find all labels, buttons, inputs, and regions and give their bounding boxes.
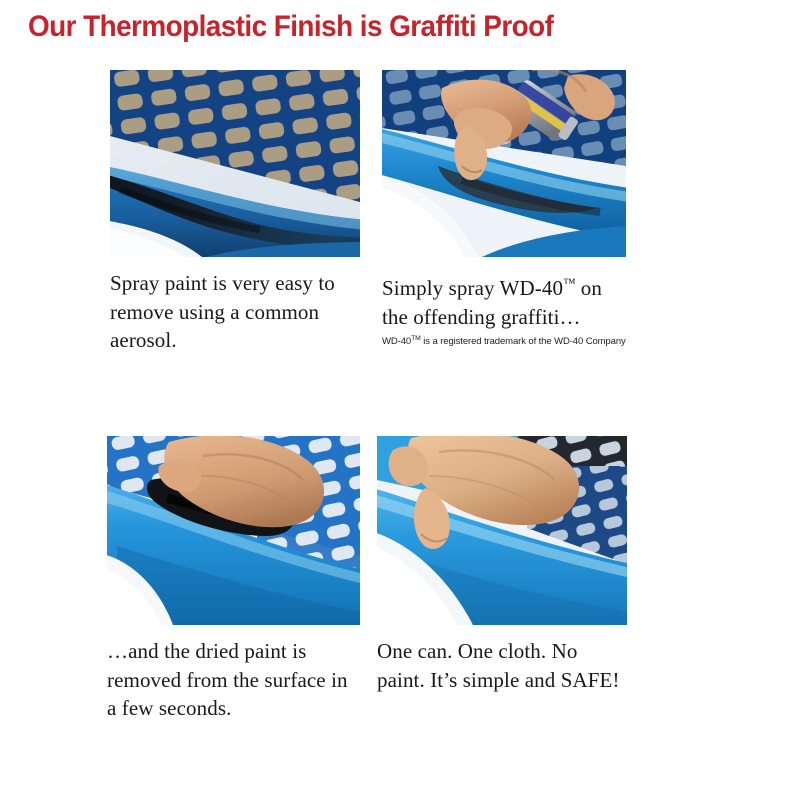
caption-step-4: One can. One cloth. No paint. It’s simpl… — [377, 637, 629, 694]
caption-step-2: Simply spray WD-40™ on the offending gra… — [382, 269, 630, 331]
photo-wiping-paint-off — [107, 436, 360, 625]
step-panel-2: Simply spray WD-40™ on the offending gra… — [382, 70, 626, 348]
page-title: Our Thermoplastic Finish is Graffiti Pro… — [28, 8, 720, 46]
photo-graffiti-on-bench — [110, 70, 360, 257]
caption-step-1: Spray paint is very easy to remove using… — [110, 269, 362, 355]
photo-clean-rail-result — [377, 436, 627, 625]
step-panel-4: One can. One cloth. No paint. It’s simpl… — [377, 436, 627, 694]
caption-step-3: …and the dried paint is removed from the… — [107, 637, 359, 723]
step-panel-1: Spray paint is very easy to remove using… — [110, 70, 360, 355]
photo-spraying-wd40 — [382, 70, 626, 257]
trademark-symbol: ™ — [563, 276, 575, 290]
step-panel-3: …and the dried paint is removed from the… — [107, 436, 360, 723]
wd40-trademark-footnote: WD-40TM is a registered trademark of the… — [382, 333, 626, 348]
